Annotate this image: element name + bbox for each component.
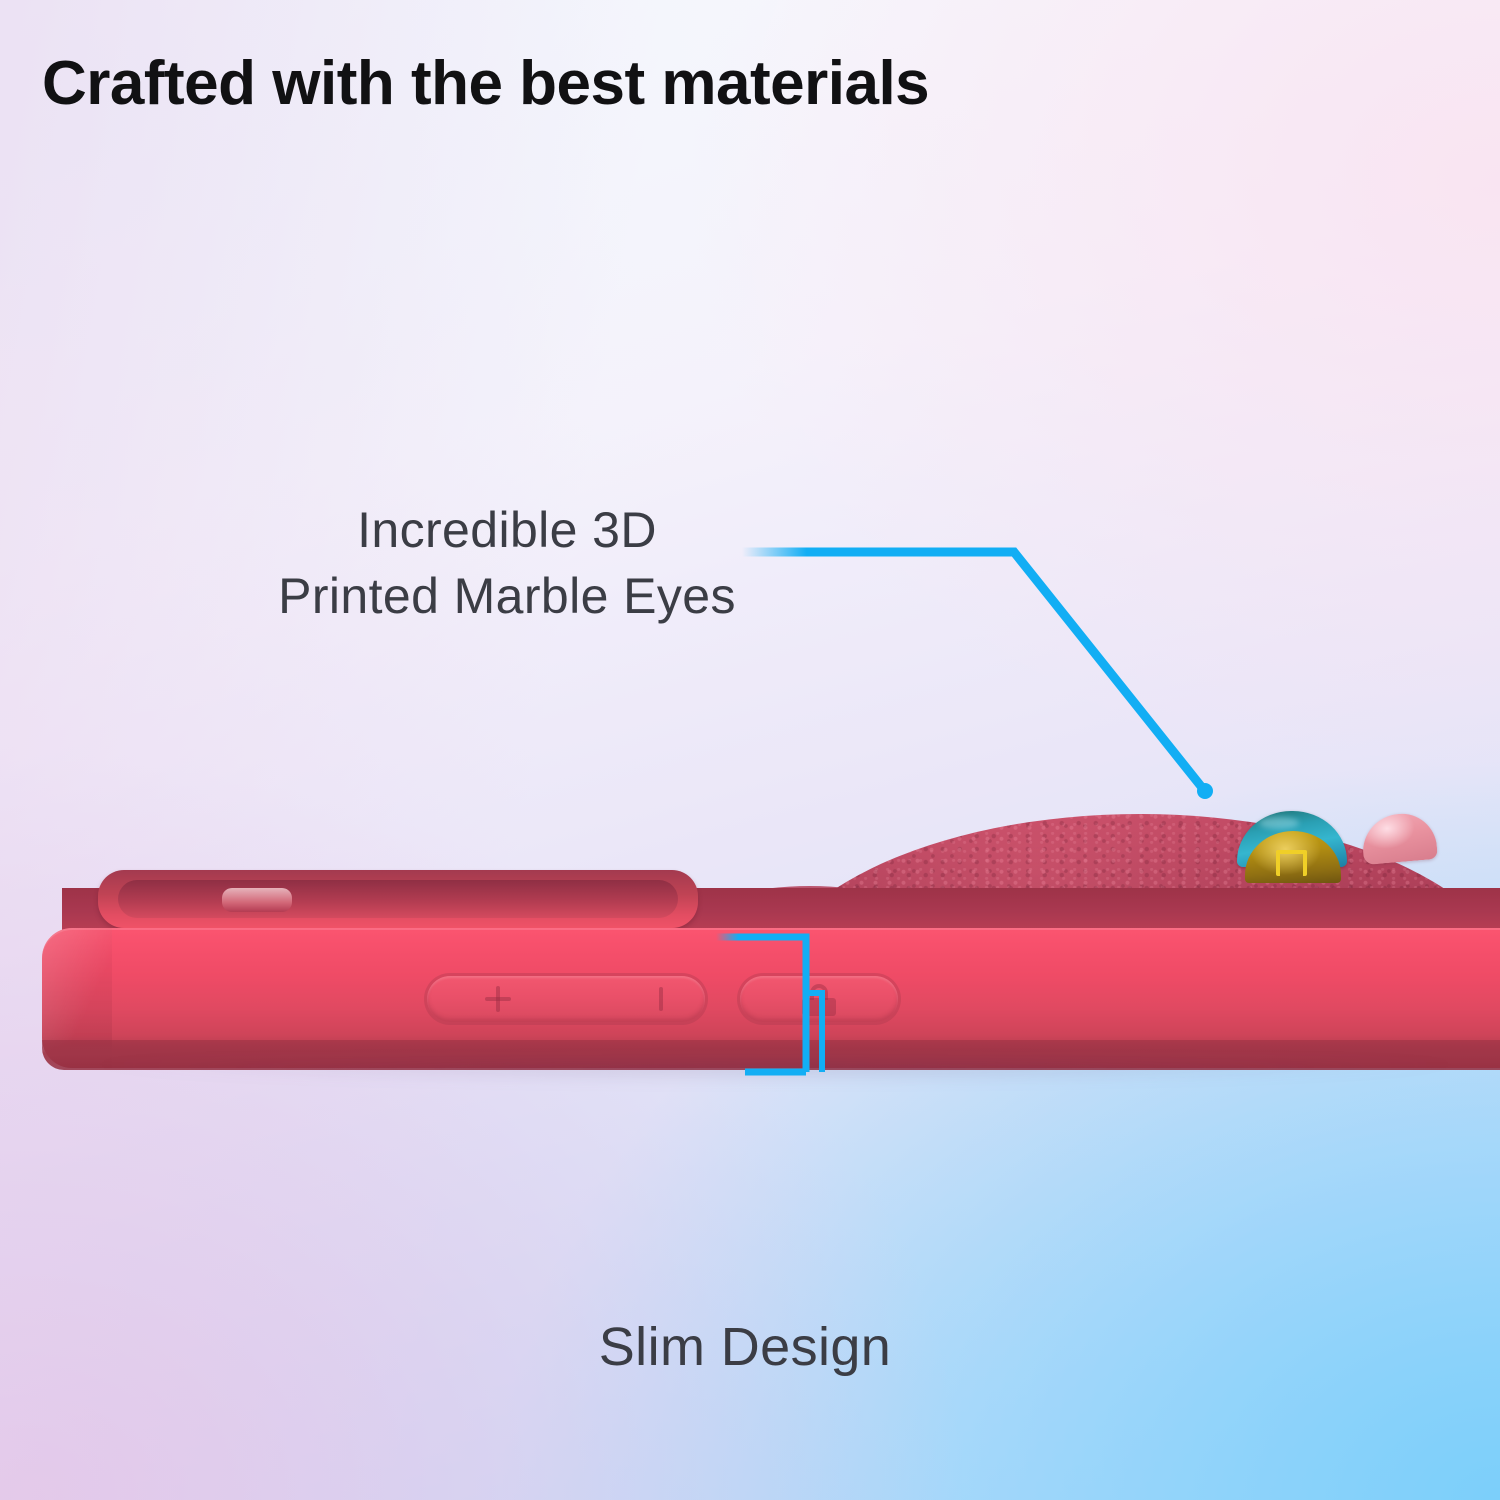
- volume-rocker-button[interactable]: [427, 976, 705, 1022]
- lock-icon-body: [802, 998, 836, 1016]
- product-feature-graphic: Crafted with the best materials: [0, 0, 1500, 1500]
- camera-bump-inner-well: [118, 880, 678, 918]
- background-tint-overlay: [0, 0, 1500, 1500]
- callout-label-marble-eyes: Incredible 3D Printed Marble Eyes: [242, 497, 772, 629]
- marble-eye: [1233, 811, 1351, 883]
- callout-label-slim-design: Slim Design: [460, 1312, 1030, 1383]
- case-drop-shadow: [40, 1062, 1500, 1088]
- camera-lens-cutout: [222, 888, 292, 912]
- power-lock-button[interactable]: [740, 976, 898, 1022]
- marble-eye-square-detail: [1276, 850, 1307, 876]
- plus-icon-stem: [496, 986, 500, 1012]
- lock-icon-shackle: [810, 984, 828, 1000]
- minus-bar-icon: [659, 987, 663, 1011]
- page-title: Crafted with the best materials: [42, 48, 929, 119]
- marble-eye-highlight: [1259, 817, 1299, 829]
